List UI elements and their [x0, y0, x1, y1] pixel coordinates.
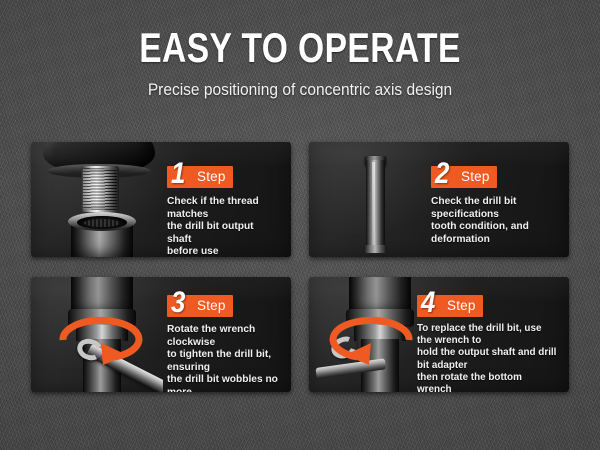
step-panel-4[interactable]: 4 Step To replace the drill bit, use the… [309, 277, 569, 392]
steps-grid: 1 Step Check if the thread matches the d… [31, 142, 569, 392]
clockwise-rotation-arrow-icon [53, 315, 149, 365]
step-photo-3 [31, 277, 163, 392]
step-badge-1: 1 Step [167, 166, 233, 188]
page-subtitle: Precise positioning of concentric axis d… [18, 80, 582, 100]
step-badge-4: 4 Step [417, 295, 483, 317]
header: EASY TO OPERATE Precise positioning of c… [0, 0, 600, 100]
step-panel-3[interactable]: 3 Step Rotate the wrench clockwise to ti… [31, 277, 291, 392]
step-text-4: 4 Step To replace the drill bit, use the… [417, 277, 563, 392]
drill-bit-highlight-icon [372, 162, 375, 248]
step-text-2: 2 Step Check the drill bit specification… [431, 142, 561, 257]
step-word-1: Step [197, 170, 226, 184]
step-panel-2[interactable]: 2 Step Check the drill bit specification… [309, 142, 569, 257]
step-text-1: 1 Step Check if the thread matches the d… [167, 142, 283, 257]
step-word-4: Step [447, 299, 476, 313]
step-panel-1[interactable]: 1 Step Check if the thread matches the d… [31, 142, 291, 257]
step-description-3: Rotate the wrench clockwise to tighten t… [167, 323, 281, 392]
step-photo-1 [31, 142, 163, 257]
step-badge-3: 3 Step [167, 295, 233, 317]
drill-bit-body-icon [366, 160, 385, 252]
step-number-4: 4 [421, 288, 434, 318]
step-photo-2 [309, 142, 441, 257]
step-word-3: Step [197, 299, 226, 313]
page-title: EASY TO OPERATE [60, 25, 540, 71]
adapter-inner-thread-icon [84, 219, 120, 227]
counterclockwise-rotation-arrow-icon [323, 315, 419, 365]
step-number-2: 2 [435, 159, 448, 189]
step-badge-2: 2 Step [431, 166, 497, 188]
threaded-shaft-icon [83, 168, 117, 210]
step-number-3: 3 [171, 288, 184, 318]
step-description-2: Check the drill bit specifications tooth… [431, 195, 557, 245]
step-word-2: Step [461, 170, 490, 184]
step-text-3: 3 Step Rotate the wrench clockwise to ti… [167, 277, 285, 392]
step-description-4: To replace the drill bit, use the wrench… [417, 323, 559, 392]
step-number-1: 1 [171, 159, 184, 189]
drill-bit-tooth-icon [364, 245, 387, 253]
step-description-1: Check if the thread matches the drill bi… [167, 195, 280, 257]
